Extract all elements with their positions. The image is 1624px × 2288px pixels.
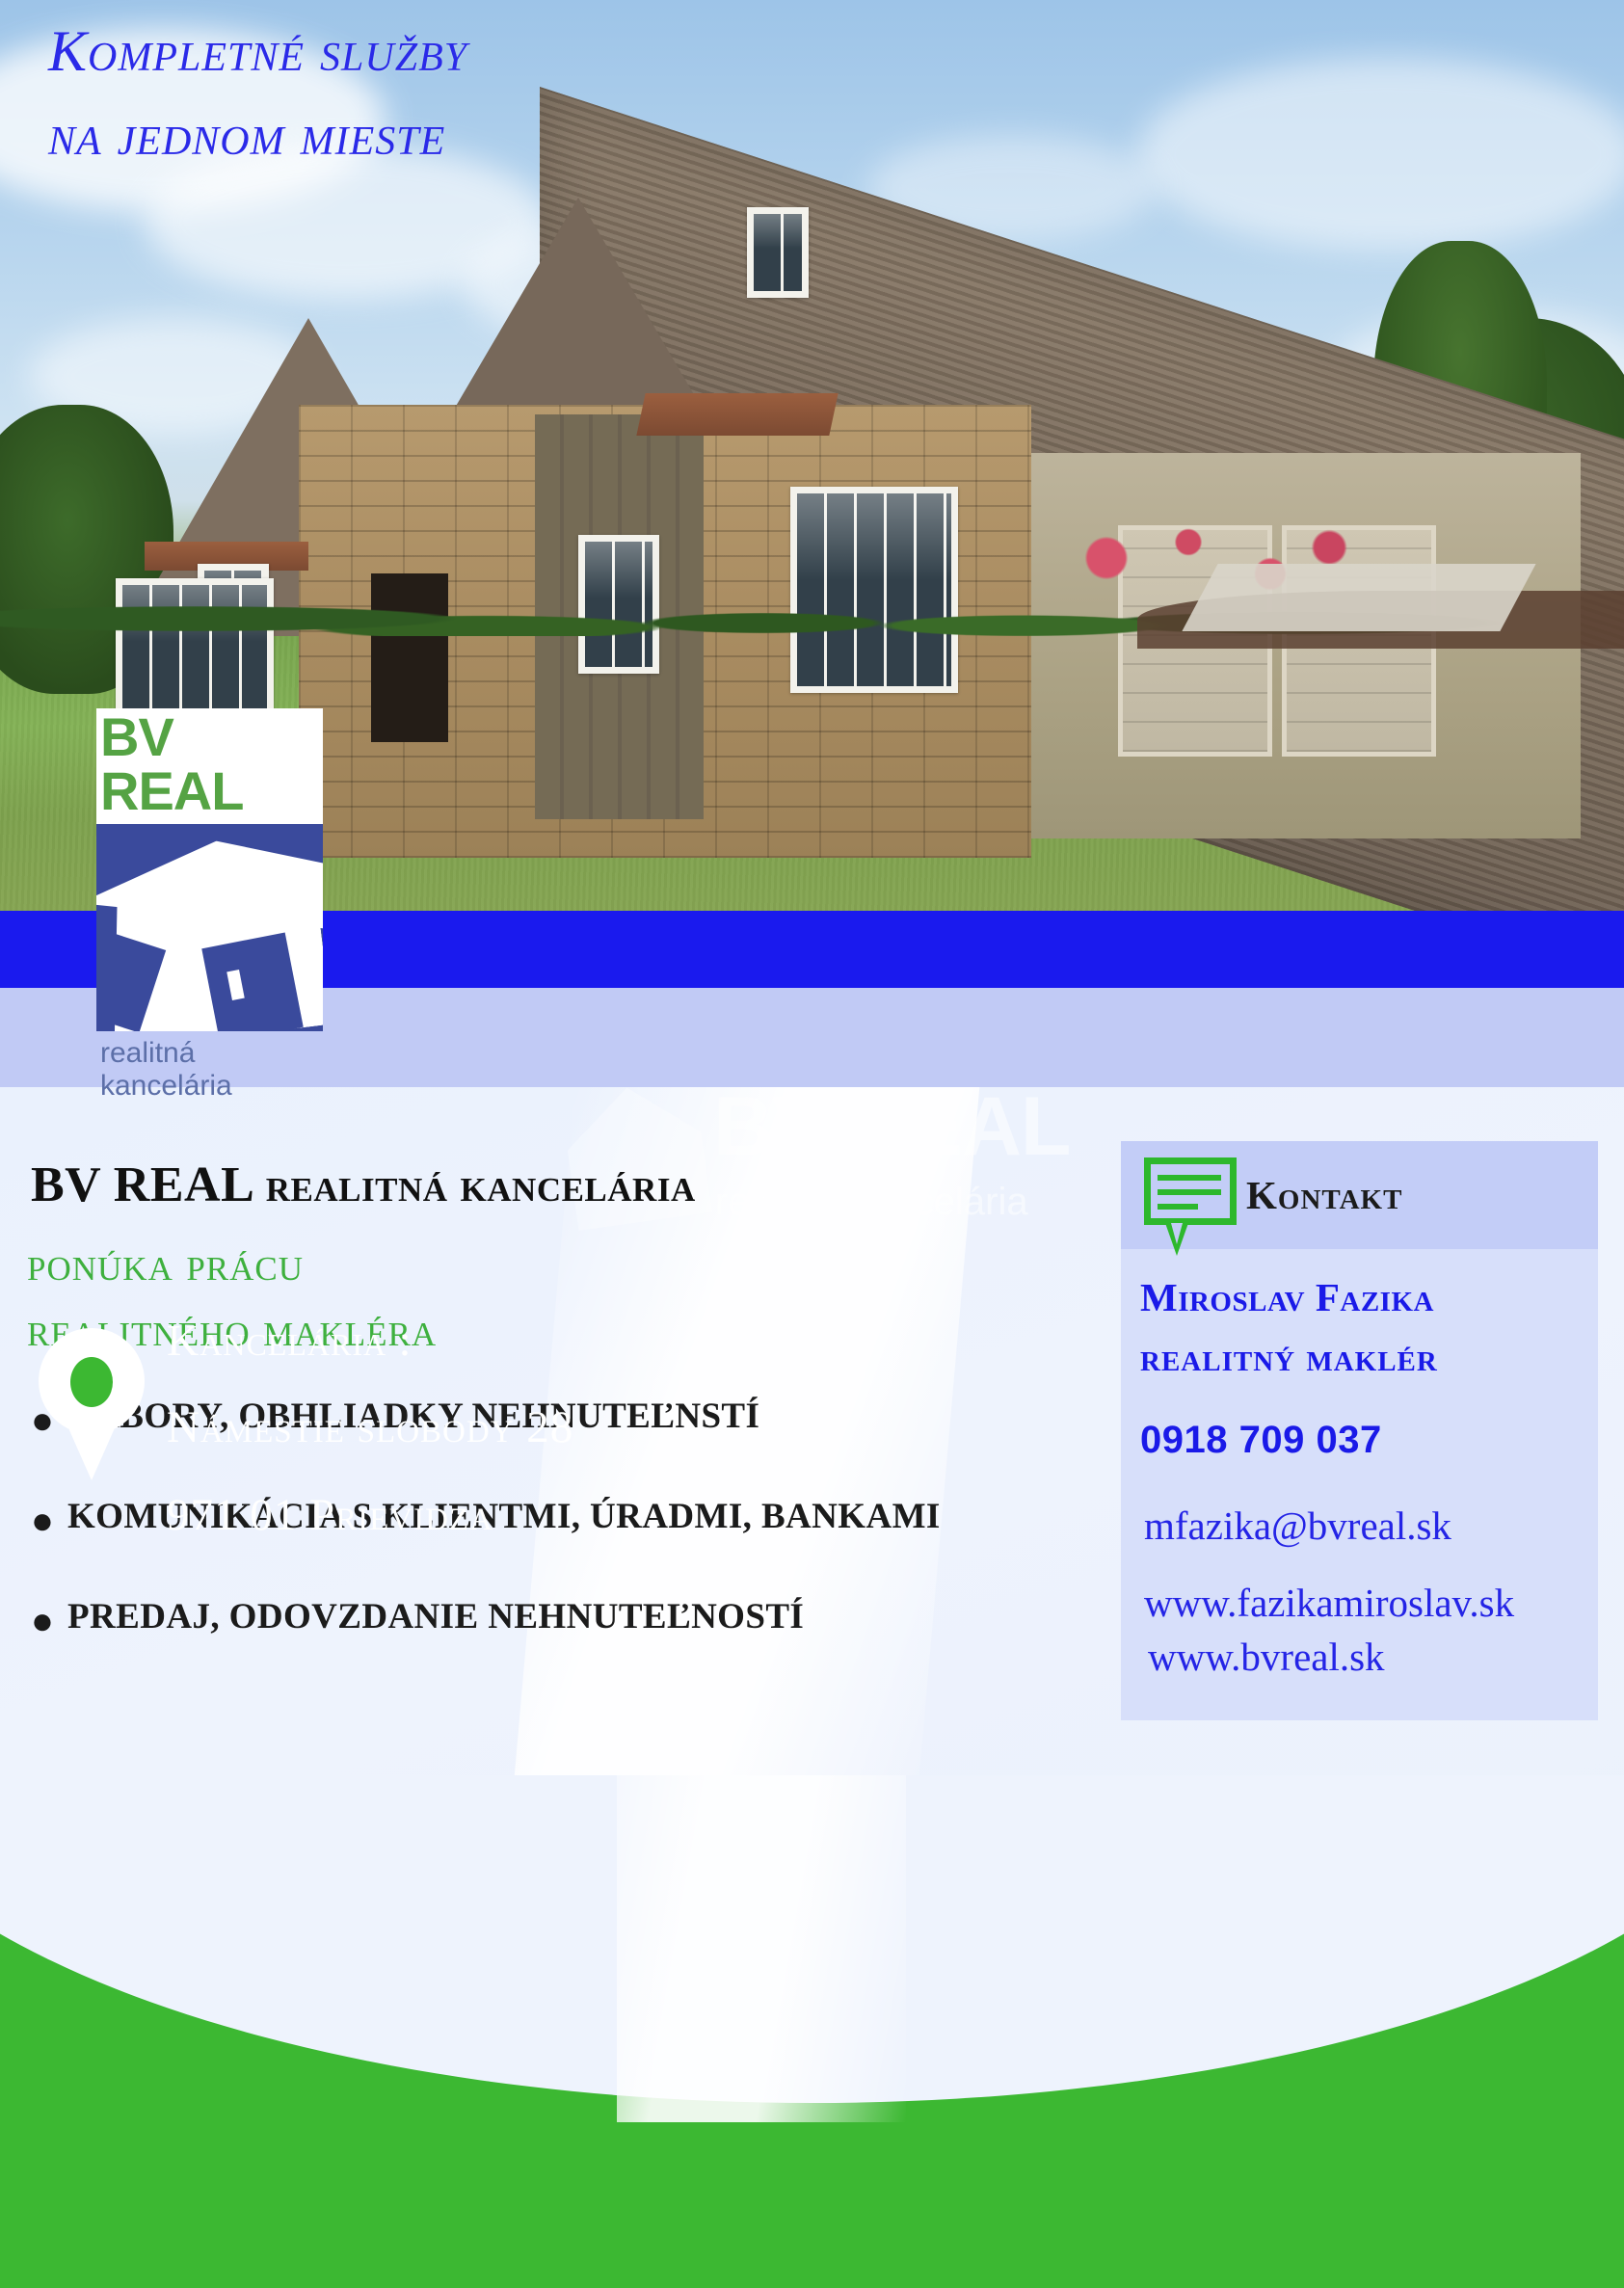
- list-item: ● PREDAJ, ODOVZDANIE NEHNUTEĽNOSTÍ: [17, 1596, 1078, 1640]
- bv-real-logo: BV REAL realitná kancelária: [96, 708, 323, 1103]
- contact-panel: Kontakt Miroslav Fazika realitný maklér …: [1121, 1141, 1598, 1720]
- page-title-brand: BV REAL: [31, 1157, 254, 1212]
- copper-awning: [636, 393, 838, 436]
- speech-bubble-line: [1158, 1189, 1221, 1195]
- logo-tagline: realitná kancelária: [100, 1037, 323, 1103]
- hero-headline: Kompletné služby na jednom mieste: [48, 10, 916, 177]
- speech-bubble-tail: [1165, 1223, 1188, 1256]
- page-title-rest: realitná kancelária: [266, 1157, 696, 1211]
- map-pin-icon: [39, 1328, 145, 1482]
- contact-role: realitný maklér: [1140, 1334, 1598, 1380]
- contact-name: Miroslav Fazika: [1140, 1274, 1598, 1320]
- office-address: Kancelária : Námestie slobody 28 971 01 …: [167, 1318, 573, 1538]
- page-title: BV REAL realitná kancelária: [31, 1157, 696, 1213]
- contact-email[interactable]: mfazika@bvreal.sk: [1144, 1503, 1598, 1549]
- contact-heading: Kontakt: [1246, 1172, 1402, 1218]
- contact-panel-header: Kontakt: [1121, 1141, 1598, 1249]
- logo-wordmark: BV REAL: [96, 708, 323, 824]
- office-label: Kancelária :: [167, 1318, 573, 1363]
- contact-website-company[interactable]: www.bvreal.sk: [1148, 1634, 1598, 1680]
- subtitle-line-1: ponúka prácu: [27, 1236, 304, 1291]
- footer-band: [0, 1775, 1624, 2288]
- office-street: Námestie slobody 28: [167, 1405, 573, 1450]
- footer-sheen: [617, 1775, 906, 2122]
- bullet-icon: ●: [17, 1602, 67, 1640]
- office-city: 971 01 Prievidza: [167, 1493, 573, 1538]
- house-logo-icon: [96, 824, 323, 1031]
- speech-bubble-line: [1158, 1175, 1221, 1181]
- speech-bubble-icon: [1144, 1157, 1237, 1233]
- contact-phone[interactable]: 0918 709 037: [1140, 1419, 1598, 1462]
- list-item-label: PREDAJ, ODOVZDANIE NEHNUTEĽNOSTÍ: [67, 1596, 804, 1637]
- driveway: [1182, 564, 1535, 631]
- contact-panel-body: Miroslav Fazika realitný maklér 0918 709…: [1121, 1249, 1598, 1720]
- speech-bubble-line: [1158, 1204, 1198, 1210]
- window: [747, 207, 809, 298]
- flyer-page: Kompletné služby na jednom mieste BV REA…: [0, 0, 1624, 2288]
- map-pin-hole: [70, 1357, 113, 1407]
- headline-line-1: Kompletné služby: [48, 10, 916, 93]
- contact-website-personal[interactable]: www.fazikamiroslav.sk: [1144, 1580, 1598, 1626]
- bullet-icon: ●: [17, 1502, 67, 1540]
- map-pin-tip: [55, 1397, 128, 1480]
- headline-line-2: na jednom mieste: [48, 93, 916, 177]
